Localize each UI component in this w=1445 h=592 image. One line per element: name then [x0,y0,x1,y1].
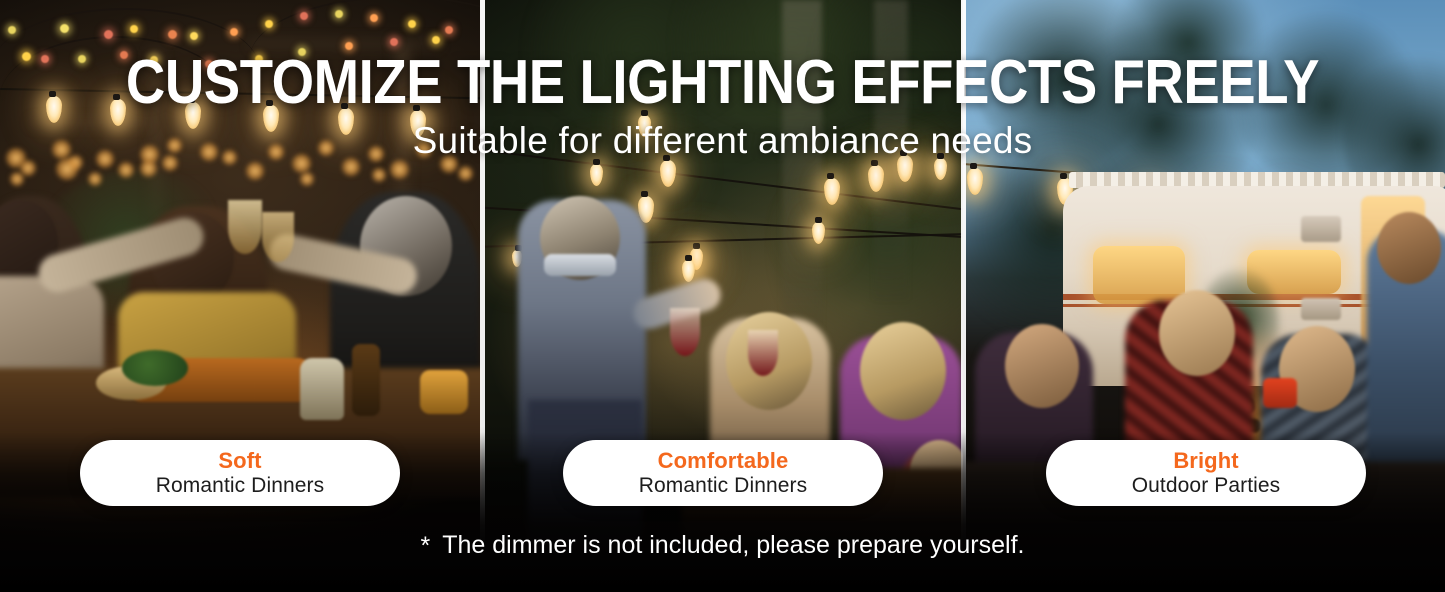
label-pill-soft: Soft Romantic Dinners [80,440,400,506]
pill-title-soft: Soft [218,449,261,473]
label-pill-comfortable: Comfortable Romantic Dinners [563,440,883,506]
pill-subtitle-bright: Outdoor Parties [1132,473,1281,498]
footnote: *The dimmer is not included, please prep… [0,530,1445,561]
pill-subtitle-soft: Romantic Dinners [156,473,325,498]
text-overlay: CUSTOMIZE THE LIGHTING EFFECTS FREELY Su… [0,0,1445,592]
asterisk-icon: * [421,531,431,561]
label-pill-bright: Bright Outdoor Parties [1046,440,1366,506]
page-subtitle: Suitable for different ambiance needs [0,119,1445,163]
pill-title-bright: Bright [1173,449,1238,473]
footnote-text: The dimmer is not included, please prepa… [442,531,1024,559]
pill-title-comfortable: Comfortable [658,449,789,473]
pill-subtitle-comfortable: Romantic Dinners [639,473,808,498]
lighting-effects-banner: CUSTOMIZE THE LIGHTING EFFECTS FREELY Su… [0,0,1445,592]
page-title: CUSTOMIZE THE LIGHTING EFFECTS FREELY [87,52,1359,114]
